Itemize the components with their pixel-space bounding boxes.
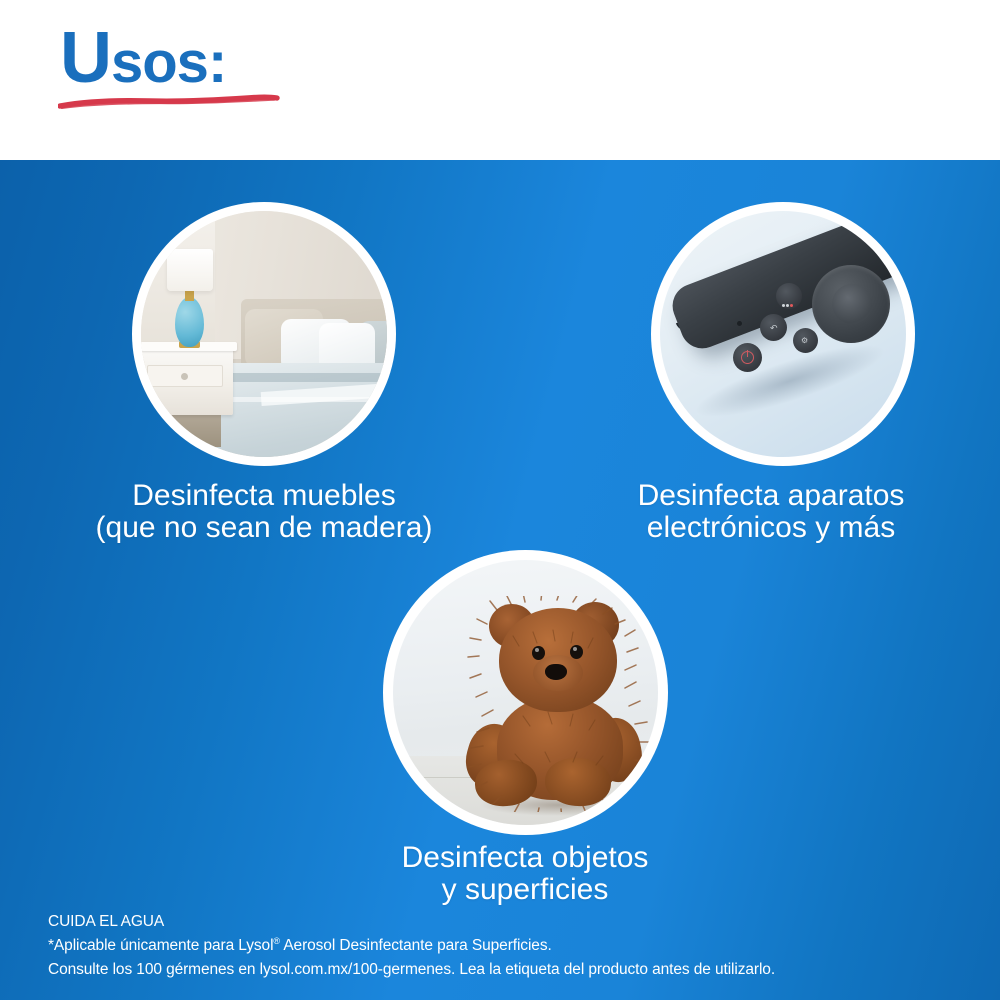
teddy-eye-left xyxy=(532,646,545,660)
caption-objects-line2: y superficies xyxy=(300,874,750,906)
remote-menu-dots-icon xyxy=(782,294,797,298)
footer-line-cuida-el-agua: CUIDA EL AGUA xyxy=(48,910,775,934)
table-lamp-shade xyxy=(167,249,213,291)
card-circle-furniture xyxy=(132,202,396,466)
teddy-nose xyxy=(545,664,567,680)
caption-electronics-line2: electrónicos y más xyxy=(556,512,986,544)
red-underline-stroke xyxy=(58,92,280,112)
caption-objects: Desinfecta objetos y superficies xyxy=(300,842,750,907)
card-circle-objects xyxy=(383,550,668,835)
settings-icon: ⚙ xyxy=(801,337,808,345)
remote-dpad-center xyxy=(832,284,872,324)
footer-line-aplicable: *Aplicable únicamente para Lysol® Aeroso… xyxy=(48,934,775,958)
caption-furniture-line1: Desinfecta muebles xyxy=(132,479,395,512)
page-title-cap: U xyxy=(60,18,111,98)
bedroom-furniture-photo xyxy=(141,211,387,457)
back-arrow-icon: ↶ xyxy=(770,324,778,333)
power-icon xyxy=(741,351,754,364)
caption-furniture-line2: (que no sean de madera) xyxy=(14,512,514,544)
caption-objects-line1: Desinfecta objetos xyxy=(402,841,649,874)
tv-remote-control-photo: ↶ ⚙ xyxy=(660,211,906,457)
caption-furniture: Desinfecta muebles (que no sean de mader… xyxy=(14,480,514,545)
footer-line2-pre: *Aplicable únicamente para Lysol xyxy=(48,937,273,954)
table-lamp-body xyxy=(175,297,204,347)
footer-line2-post: Aerosol Desinfectante para Superficies. xyxy=(280,937,552,954)
page-title: Usos: xyxy=(60,22,226,94)
remote-ir-led xyxy=(737,321,742,326)
card-circle-electronics: ↶ ⚙ xyxy=(651,202,915,466)
caption-electronics: Desinfecta aparatos electrónicos y más xyxy=(556,480,986,545)
legal-footer: CUIDA EL AGUA *Aplicable únicamente para… xyxy=(48,910,775,982)
remote-drop-shadow xyxy=(689,331,892,431)
nightstand-shelf xyxy=(149,413,221,447)
teddy-bear-photo xyxy=(393,560,658,825)
header: Usos: xyxy=(0,0,1000,160)
footer-line-consulte: Consulte los 100 gérmenes en lysol.com.m… xyxy=(48,958,775,982)
nightstand-knob xyxy=(181,373,188,380)
teddy-eye-right xyxy=(570,645,583,659)
page-title-rest: sos: xyxy=(111,30,226,95)
caption-electronics-line1: Desinfecta aparatos xyxy=(638,479,905,512)
